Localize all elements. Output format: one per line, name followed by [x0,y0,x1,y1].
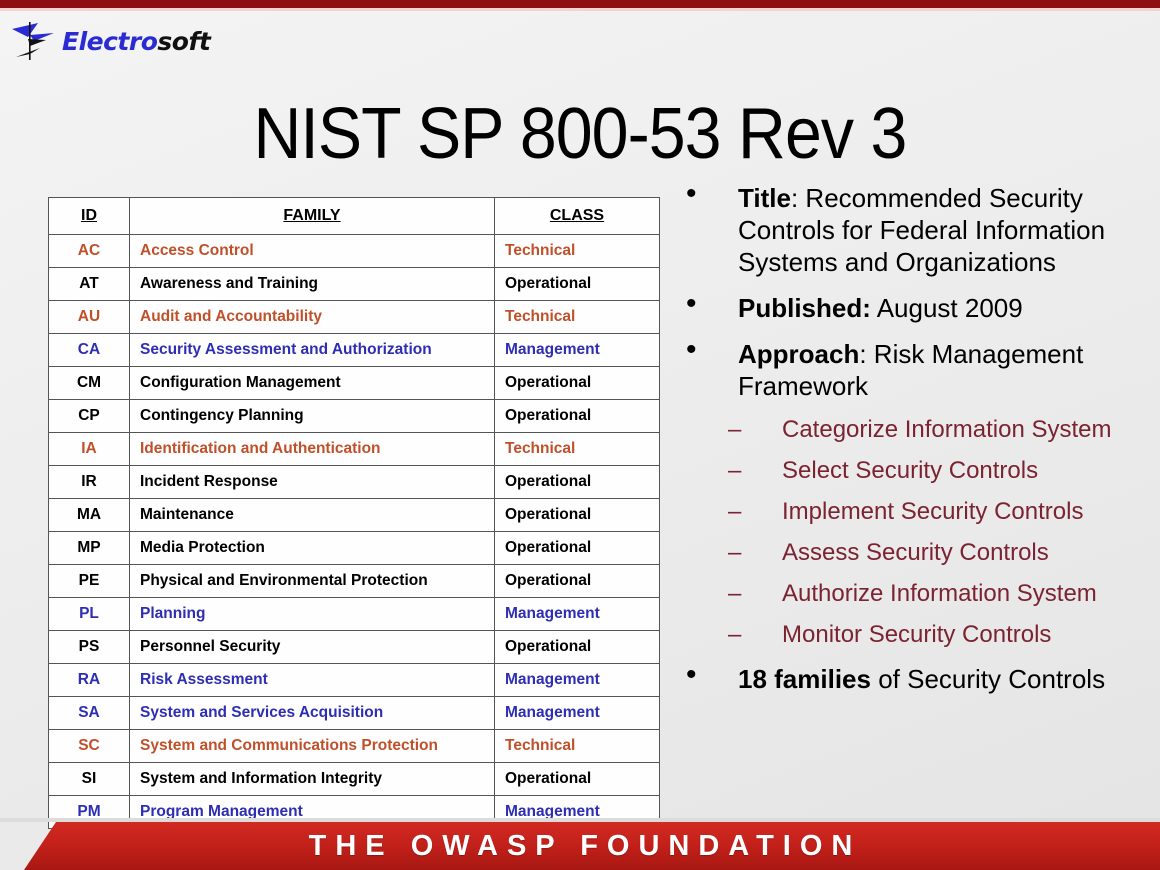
cell-id: CA [49,334,130,367]
table-row: SCSystem and Communications ProtectionTe… [49,730,660,763]
column-header-class: CLASS [495,198,660,235]
bullet-families-value: of Security Controls [871,664,1105,694]
rmf-step: Categorize Information System [676,416,1146,444]
cell-family: Planning [130,598,495,631]
cell-class: Operational [495,631,660,664]
cell-class: Management [495,598,660,631]
cell-family: System and Communications Protection [130,730,495,763]
cell-family: Physical and Environmental Protection [130,565,495,598]
cell-family: Contingency Planning [130,400,495,433]
cell-family: Security Assessment and Authorization [130,334,495,367]
table-row: PLPlanningManagement [49,598,660,631]
bullet-title: Title: Recommended Security Controls for… [676,182,1146,278]
cell-family: Personnel Security [130,631,495,664]
cell-family: Maintenance [130,499,495,532]
cell-class: Operational [495,532,660,565]
cell-id: PS [49,631,130,664]
cell-id: SC [49,730,130,763]
table-row: CPContingency PlanningOperational [49,400,660,433]
table-row: MAMaintenanceOperational [49,499,660,532]
cell-class: Management [495,334,660,367]
rmf-steps-list: Categorize Information SystemSelect Secu… [676,416,1146,649]
table-header-row: ID FAMILY CLASS [49,198,660,235]
table-row: ATAwareness and TrainingOperational [49,268,660,301]
cell-class: Operational [495,400,660,433]
bullet-approach-label: Approach [738,339,859,369]
cell-class: Operational [495,565,660,598]
table-body: ACAccess ControlTechnicalATAwareness and… [49,235,660,829]
cell-family: Media Protection [130,532,495,565]
electrosoft-logo: Electrosoft [8,18,210,64]
table-row: IAIdentification and AuthenticationTechn… [49,433,660,466]
cell-family: Awareness and Training [130,268,495,301]
table-row: SISystem and Information IntegrityOperat… [49,763,660,796]
table-row: PSPersonnel SecurityOperational [49,631,660,664]
cell-family: Audit and Accountability [130,301,495,334]
cell-family: Access Control [130,235,495,268]
cell-class: Operational [495,763,660,796]
cell-class: Technical [495,730,660,763]
bullet-title-label: Title [738,183,791,213]
bullet-published-label: Published: [738,293,871,323]
column-header-id-label: ID [81,207,97,224]
cell-class: Operational [495,367,660,400]
cell-id: AT [49,268,130,301]
cell-id: RA [49,664,130,697]
column-header-class-label: CLASS [550,207,604,224]
cell-class: Technical [495,301,660,334]
column-header-family: FAMILY [130,198,495,235]
footer-text: THE OWASP FOUNDATION [0,822,1160,870]
cell-id: PE [49,565,130,598]
logo-soft-text: soft [157,27,210,56]
page-title: NIST SP 800-53 Rev 3 [46,92,1113,176]
logo-electro-text: Electro [62,27,157,56]
cell-class: Technical [495,235,660,268]
bullet-title-value: : Recommended Security Controls for Fede… [738,183,1105,277]
cell-class: Technical [495,433,660,466]
table-row: CASecurity Assessment and AuthorizationM… [49,334,660,367]
table-row: RARisk AssessmentManagement [49,664,660,697]
electrosoft-bird-mark [8,19,60,63]
cell-class: Management [495,664,660,697]
cell-id: SA [49,697,130,730]
cell-id: PL [49,598,130,631]
rmf-step: Authorize Information System [676,580,1146,608]
rmf-step: Monitor Security Controls [676,621,1146,649]
cell-id: CP [49,400,130,433]
cell-id: AU [49,301,130,334]
rmf-step: Assess Security Controls [676,539,1146,567]
cell-id: SI [49,763,130,796]
cell-class: Operational [495,499,660,532]
slide-root: Electrosoft NIST SP 800-53 Rev 3 ID FAMI… [0,0,1160,870]
top-bar-hairline [0,8,1160,11]
rmf-step: Select Security Controls [676,457,1146,485]
owasp-footer: THE OWASP FOUNDATION [0,822,1160,870]
cell-family: Incident Response [130,466,495,499]
top-red-bar [0,0,1160,8]
cell-family: Identification and Authentication [130,433,495,466]
bullet-published: Published: August 2009 [676,292,1146,324]
table-row: IRIncident ResponseOperational [49,466,660,499]
table-row: PEPhysical and Environmental ProtectionO… [49,565,660,598]
cell-id: CM [49,367,130,400]
cell-class: Operational [495,268,660,301]
table-row: MPMedia ProtectionOperational [49,532,660,565]
bullet-list: Title: Recommended Security Controls for… [676,182,1146,709]
bullet-families: 18 families of Security Controls [676,663,1146,695]
column-header-id: ID [49,198,130,235]
table-row: ACAccess ControlTechnical [49,235,660,268]
table-row: CMConfiguration ManagementOperational [49,367,660,400]
bullet-families-label: 18 families [738,664,871,694]
bullet-approach: Approach: Risk Management Framework [676,338,1146,402]
bullet-published-value: August 2009 [871,293,1023,323]
column-header-family-label: FAMILY [283,207,340,224]
cell-family: Risk Assessment [130,664,495,697]
cell-id: AC [49,235,130,268]
table-row: SASystem and Services AcquisitionManagem… [49,697,660,730]
logo-wordmark: Electrosoft [62,27,210,56]
table-row: AUAudit and AccountabilityTechnical [49,301,660,334]
cell-family: Configuration Management [130,367,495,400]
control-families-table: ID FAMILY CLASS ACAccess ControlTechnica… [48,197,660,829]
cell-family: System and Information Integrity [130,763,495,796]
table-header: ID FAMILY CLASS [49,198,660,235]
cell-class: Management [495,697,660,730]
cell-id: MP [49,532,130,565]
cell-id: IR [49,466,130,499]
cell-id: MA [49,499,130,532]
cell-family: System and Services Acquisition [130,697,495,730]
cell-id: IA [49,433,130,466]
rmf-step: Implement Security Controls [676,498,1146,526]
cell-class: Operational [495,466,660,499]
